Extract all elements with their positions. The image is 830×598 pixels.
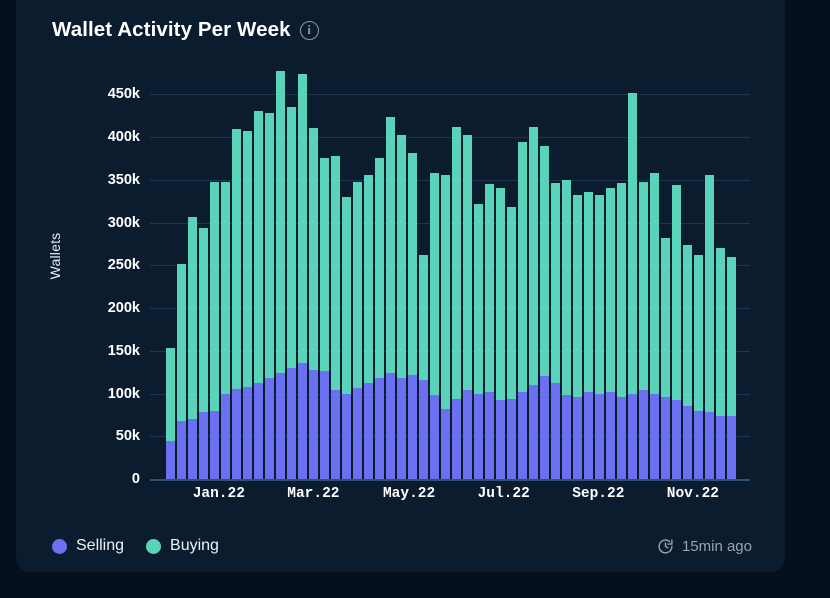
bar-segment-buying (672, 185, 681, 400)
bar-column[interactable] (727, 257, 736, 479)
bar-column[interactable] (628, 93, 637, 479)
bar-column[interactable] (650, 173, 659, 479)
bar-column[interactable] (232, 129, 241, 479)
bar-segment-buying (727, 257, 736, 416)
bar-segment-selling (430, 395, 439, 479)
x-axis-tick-label: May.22 (383, 486, 435, 502)
bar-segment-selling (474, 394, 483, 479)
bar-segment-buying (562, 180, 571, 395)
bar-segment-buying (628, 93, 637, 394)
bar-column[interactable] (694, 255, 703, 479)
y-axis-tick-label: 50k (116, 428, 140, 444)
bar-segment-buying (683, 245, 692, 406)
bar-column[interactable] (199, 228, 208, 479)
bar-segment-selling (375, 378, 384, 479)
bar-segment-buying (584, 192, 593, 392)
bar-segment-selling (551, 383, 560, 479)
chart-legend: SellingBuying (52, 537, 219, 555)
bar-column[interactable] (397, 135, 406, 479)
bar-segment-selling (540, 376, 549, 479)
x-axis-tick-label: Jan.22 (193, 486, 245, 502)
bar-column[interactable] (540, 146, 549, 479)
bar-segment-selling (199, 412, 208, 479)
bar-segment-buying (309, 128, 318, 370)
bar-segment-buying (199, 228, 208, 413)
bar-column[interactable] (496, 188, 505, 479)
bar-segment-buying (397, 135, 406, 378)
bar-segment-buying (716, 248, 725, 416)
bar-column[interactable] (683, 245, 692, 479)
y-axis-tick-label: 200k (108, 300, 140, 316)
bar-column[interactable] (287, 107, 296, 479)
bar-segment-buying (606, 188, 615, 391)
bar-segment-selling (441, 409, 450, 479)
bar-segment-selling (672, 400, 681, 479)
bar-segment-buying (188, 217, 197, 419)
bar-segment-buying (529, 127, 538, 385)
bar-column[interactable] (265, 113, 274, 479)
bar-segment-buying (166, 348, 175, 440)
bar-segment-buying (243, 131, 252, 387)
bar-column[interactable] (617, 183, 626, 479)
x-axis-tick-label: Nov.22 (667, 486, 719, 502)
bar-segment-buying (650, 173, 659, 394)
bar-segment-buying (694, 255, 703, 411)
legend-item-label: Buying (170, 537, 219, 555)
bar-segment-selling (507, 399, 516, 479)
bar-column[interactable] (177, 264, 186, 479)
bar-segment-selling (705, 412, 714, 479)
bar-column[interactable] (243, 131, 252, 479)
clock-refresh-icon (657, 538, 674, 555)
bar-column[interactable] (474, 204, 483, 479)
bar-segment-buying (419, 255, 428, 380)
bar-column[interactable] (386, 117, 395, 479)
bar-segment-buying (254, 111, 263, 384)
bar-segment-selling (276, 373, 285, 479)
bar-column[interactable] (606, 188, 615, 479)
bar-segment-selling (650, 394, 659, 479)
bar-column[interactable] (353, 182, 362, 479)
bar-column[interactable] (672, 185, 681, 479)
bar-segment-selling (463, 390, 472, 479)
bar-column[interactable] (408, 153, 417, 480)
bar-column[interactable] (463, 135, 472, 479)
bar-segment-buying (573, 195, 582, 397)
bar-segment-buying (507, 207, 516, 398)
bar-segment-buying (463, 135, 472, 390)
last-updated-label: 15min ago (682, 538, 752, 555)
bar-segment-buying (232, 129, 241, 390)
wallet-activity-card: Wallet Activity Per Week i Wallets 050k1… (16, 0, 785, 572)
bar-column[interactable] (507, 207, 516, 479)
bar-segment-selling (232, 389, 241, 479)
bar-column[interactable] (551, 183, 560, 479)
y-axis-tick-label: 100k (108, 386, 140, 402)
bar-column[interactable] (661, 238, 670, 479)
y-axis-tick-label: 0 (132, 471, 140, 487)
bar-series-container (166, 73, 738, 479)
bar-segment-buying (276, 71, 285, 373)
bar-segment-selling (639, 390, 648, 479)
bar-column[interactable] (309, 128, 318, 479)
legend-dot-icon (146, 539, 161, 554)
y-axis-tick-label: 300k (108, 215, 140, 231)
bar-column[interactable] (188, 217, 197, 479)
bar-segment-selling (628, 394, 637, 479)
bar-segment-selling (573, 397, 582, 479)
bar-segment-selling (694, 411, 703, 479)
legend-item[interactable]: Buying (146, 537, 219, 555)
legend-item[interactable]: Selling (52, 537, 124, 555)
bar-column[interactable] (441, 175, 450, 479)
bar-segment-selling (177, 421, 186, 479)
bar-segment-selling (309, 370, 318, 479)
bar-segment-selling (298, 363, 307, 479)
bar-segment-selling (243, 387, 252, 479)
y-axis-tick-label: 400k (108, 129, 140, 145)
bar-segment-buying (551, 183, 560, 383)
grid-line (150, 479, 750, 481)
bar-segment-buying (375, 158, 384, 379)
bar-column[interactable] (254, 111, 263, 479)
bar-segment-buying (342, 197, 351, 394)
bar-column[interactable] (375, 158, 384, 479)
bar-segment-selling (452, 399, 461, 479)
screen: Wallet Activity Per Week i Wallets 050k1… (0, 0, 830, 598)
legend-dot-icon (52, 539, 67, 554)
bar-column[interactable] (639, 182, 648, 479)
bar-column[interactable] (364, 175, 373, 479)
x-axis-tick-label: Jul.22 (478, 486, 530, 502)
bar-segment-selling (606, 392, 615, 479)
bar-segment-selling (496, 400, 505, 479)
bar-segment-buying (518, 142, 527, 392)
bar-segment-buying (177, 264, 186, 421)
bar-segment-selling (397, 378, 406, 479)
bar-segment-buying (386, 117, 395, 373)
bar-segment-selling (529, 385, 538, 479)
bar-segment-buying (430, 173, 439, 395)
y-axis-title: Wallets (47, 201, 63, 311)
x-axis-tick-labels: Jan.22Mar.22May.22Jul.22Sep.22Nov.22 (166, 486, 738, 510)
bar-column[interactable] (276, 71, 285, 479)
bar-column[interactable] (419, 255, 428, 479)
bar-column[interactable] (562, 180, 571, 479)
bar-column[interactable] (320, 158, 329, 479)
bar-segment-selling (364, 383, 373, 479)
bar-column[interactable] (331, 156, 340, 479)
bar-segment-selling (408, 375, 417, 479)
bar-segment-selling (221, 394, 230, 479)
bar-column[interactable] (166, 348, 175, 479)
bar-column[interactable] (518, 142, 527, 479)
y-axis-tick-label: 350k (108, 172, 140, 188)
bar-segment-buying (221, 182, 230, 393)
bar-segment-buying (331, 156, 340, 390)
bar-segment-selling (342, 394, 351, 479)
bar-segment-selling (485, 392, 494, 479)
bar-segment-selling (254, 383, 263, 479)
bar-segment-buying (705, 175, 714, 413)
bar-segment-buying (265, 113, 274, 378)
y-axis-tick-labels: 050k100k150k200k250k300k350k400k450k (62, 96, 140, 493)
bar-column[interactable] (430, 173, 439, 479)
bar-column[interactable] (584, 192, 593, 479)
y-axis-tick-label: 250k (108, 257, 140, 273)
y-axis-tick-label: 450k (108, 86, 140, 102)
bar-segment-selling (562, 395, 571, 479)
bar-column[interactable] (342, 197, 351, 479)
bar-column[interactable] (716, 248, 725, 479)
bar-segment-buying (353, 182, 362, 389)
bar-column[interactable] (221, 182, 230, 479)
bar-segment-selling (210, 411, 219, 479)
bar-column[interactable] (210, 182, 219, 479)
bar-segment-buying (364, 175, 373, 384)
bar-segment-selling (419, 380, 428, 479)
y-axis-tick-label: 150k (108, 343, 140, 359)
bar-column[interactable] (705, 175, 714, 479)
bar-column[interactable] (529, 127, 538, 479)
bar-segment-selling (716, 416, 725, 479)
bar-segment-buying (210, 182, 219, 410)
bar-segment-selling (188, 419, 197, 479)
bar-column[interactable] (595, 195, 604, 479)
bar-segment-buying (639, 182, 648, 391)
bar-segment-selling (683, 406, 692, 480)
bar-segment-buying (496, 188, 505, 400)
bar-segment-selling (331, 390, 340, 479)
bar-segment-buying (540, 146, 549, 377)
legend-item-label: Selling (76, 537, 124, 555)
bar-segment-buying (474, 204, 483, 394)
bar-segment-buying (408, 153, 417, 375)
bar-segment-selling (518, 392, 527, 479)
bar-segment-buying (320, 158, 329, 372)
bar-segment-buying (595, 195, 604, 393)
x-axis-tick-label: Sep.22 (572, 486, 624, 502)
bar-column[interactable] (485, 184, 494, 479)
bar-segment-selling (287, 368, 296, 479)
bar-column[interactable] (573, 195, 582, 479)
bar-segment-selling (617, 397, 626, 479)
bar-column[interactable] (298, 74, 307, 479)
bar-segment-selling (166, 441, 175, 479)
bar-segment-selling (320, 371, 329, 479)
x-axis-tick-label: Mar.22 (287, 486, 339, 502)
bar-segment-buying (452, 127, 461, 399)
bar-segment-buying (617, 183, 626, 397)
bar-segment-selling (265, 378, 274, 479)
bar-segment-selling (353, 388, 362, 479)
chart-footer: SellingBuying 15min ago (52, 531, 752, 561)
bar-segment-selling (386, 373, 395, 479)
bar-segment-buying (441, 175, 450, 409)
bar-segment-selling (661, 397, 670, 479)
bar-segment-selling (584, 392, 593, 479)
bar-segment-buying (661, 238, 670, 397)
last-updated: 15min ago (657, 538, 752, 555)
bar-segment-buying (298, 74, 307, 363)
bar-segment-selling (727, 416, 736, 479)
chart-plot-area: Wallets 050k100k150k200k250k300k350k400k… (16, 0, 785, 520)
bar-segment-buying (485, 184, 494, 392)
bar-segment-selling (595, 394, 604, 479)
bar-column[interactable] (452, 127, 461, 479)
bar-segment-buying (287, 107, 296, 368)
